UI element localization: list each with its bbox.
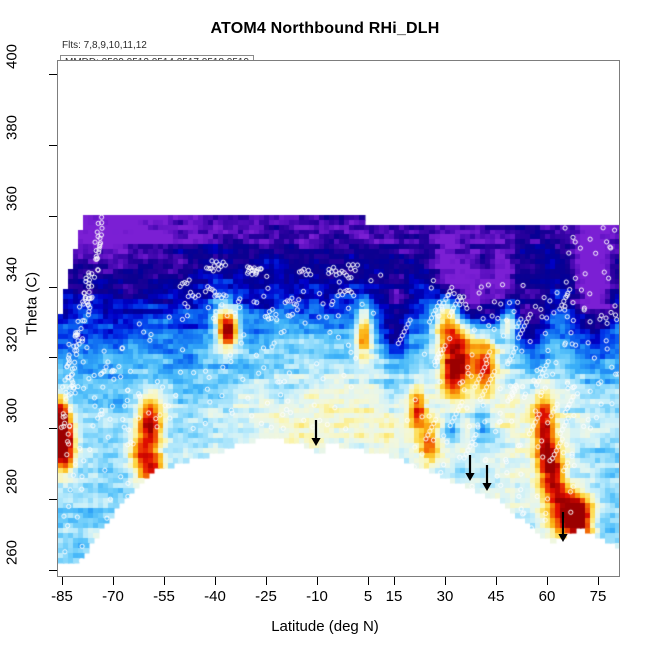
- x-axis-tick: [445, 577, 446, 585]
- plot-area: [57, 60, 620, 577]
- y-axis-tick-label: 380: [4, 99, 21, 155]
- x-axis-tick-label: -40: [204, 588, 226, 605]
- y-axis-tick: [49, 216, 57, 217]
- x-axis-tick-label: 15: [386, 588, 403, 605]
- x-axis-tick-label: -10: [306, 588, 328, 605]
- y-axis-tick-label: 400: [4, 29, 21, 85]
- y-axis-tick: [49, 357, 57, 358]
- x-axis-tick-label: -85: [51, 588, 73, 605]
- x-axis-tick: [368, 577, 369, 585]
- x-axis-tick-label: 75: [590, 588, 607, 605]
- x-axis-tick: [62, 577, 63, 585]
- y-axis-tick: [49, 74, 57, 75]
- y-axis-tick: [49, 570, 57, 571]
- y-axis-tick: [49, 499, 57, 500]
- y-axis-tick: [49, 145, 57, 146]
- y-axis-tick-label: 360: [4, 170, 21, 226]
- x-axis-tick-label: -25: [255, 588, 277, 605]
- x-axis-tick-label: -55: [153, 588, 175, 605]
- x-axis-tick: [266, 577, 267, 585]
- x-axis-tick: [164, 577, 165, 585]
- figure-root: ATOM4 Northbound RHi_DLH Flts: 7,8,9,10,…: [0, 0, 650, 650]
- x-axis-tick: [598, 577, 599, 585]
- x-axis-tick: [394, 577, 395, 585]
- x-axis-tick-label: 45: [488, 588, 505, 605]
- x-axis-title: Latitude (deg N): [0, 618, 650, 635]
- x-axis-tick: [496, 577, 497, 585]
- x-axis-tick-label: 5: [364, 588, 372, 605]
- x-axis-tick: [113, 577, 114, 585]
- x-axis-tick: [317, 577, 318, 585]
- y-axis-tick: [49, 287, 57, 288]
- x-axis-tick-label: 30: [437, 588, 454, 605]
- y-axis-tick-label: 280: [4, 454, 21, 510]
- y-axis-tick-label: 300: [4, 383, 21, 439]
- y-axis-title: Theta (C): [24, 224, 41, 384]
- heatmap-image: [58, 61, 620, 577]
- x-axis-tick: [215, 577, 216, 585]
- y-axis-tick-label: 320: [4, 312, 21, 368]
- y-axis-tick: [49, 428, 57, 429]
- y-axis-tick-label: 340: [4, 241, 21, 297]
- x-axis-tick: [547, 577, 548, 585]
- x-axis-tick-label: -70: [102, 588, 124, 605]
- y-axis-tick-label: 260: [4, 524, 21, 580]
- x-axis-tick-label: 60: [539, 588, 556, 605]
